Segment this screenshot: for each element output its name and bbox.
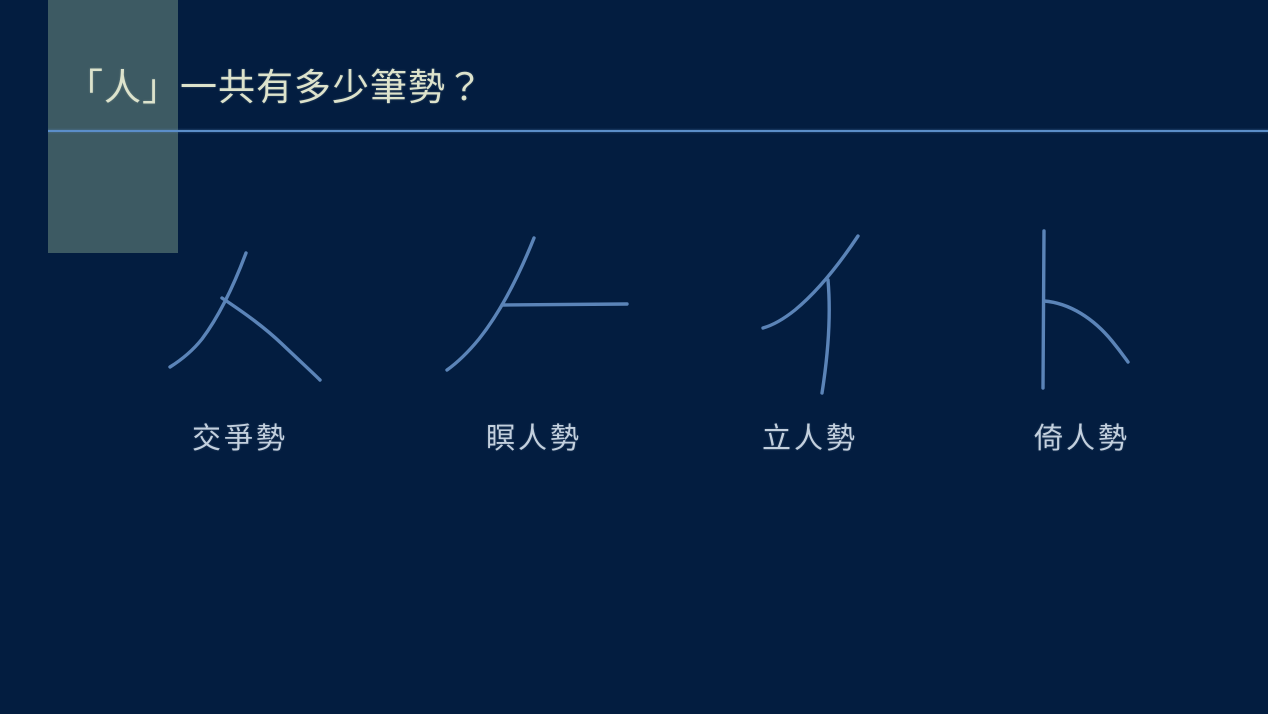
- stroke-form-item-li-ren-shi: 立人勢: [700, 215, 920, 480]
- slide-canvas: 「人」一共有多少筆勢？ 交爭勢 瞑人勢: [0, 0, 1268, 714]
- stroke-form-label: 瞑人勢: [424, 415, 644, 457]
- stroke-form-row: 交爭勢 瞑人勢 立人勢: [0, 215, 1268, 480]
- glyph-drawing-ren: [130, 215, 350, 415]
- glyph-drawing-pie-heng: [424, 215, 644, 415]
- stroke-na-curving-down-right: [1044, 301, 1128, 362]
- stroke-na-curving-down-right: [222, 298, 320, 380]
- stroke-shu-vertical: [822, 280, 829, 393]
- stroke-pie-flat-down-left: [763, 236, 858, 328]
- stroke-form-item-ming-ren-shi: 瞑人勢: [424, 215, 644, 480]
- title-rule: [48, 130, 1268, 132]
- stroke-heng-horizontal: [502, 304, 627, 305]
- stroke-form-item-jiao-zheng-shi: 交爭勢: [130, 215, 350, 480]
- stroke-form-item-yi-ren-shi: 倚人勢: [972, 215, 1192, 480]
- glyph-drawing-i-radical: [700, 215, 920, 415]
- stroke-form-label: 倚人勢: [972, 415, 1192, 457]
- stroke-shu-vertical: [1043, 231, 1044, 388]
- page-title: 「人」一共有多少筆勢？: [66, 70, 484, 107]
- stroke-form-label: 交爭勢: [130, 415, 350, 457]
- glyph-drawing-to-shape: [972, 215, 1192, 415]
- stroke-form-label: 立人勢: [700, 415, 920, 457]
- stroke-pie-curving-down-left: [170, 253, 246, 367]
